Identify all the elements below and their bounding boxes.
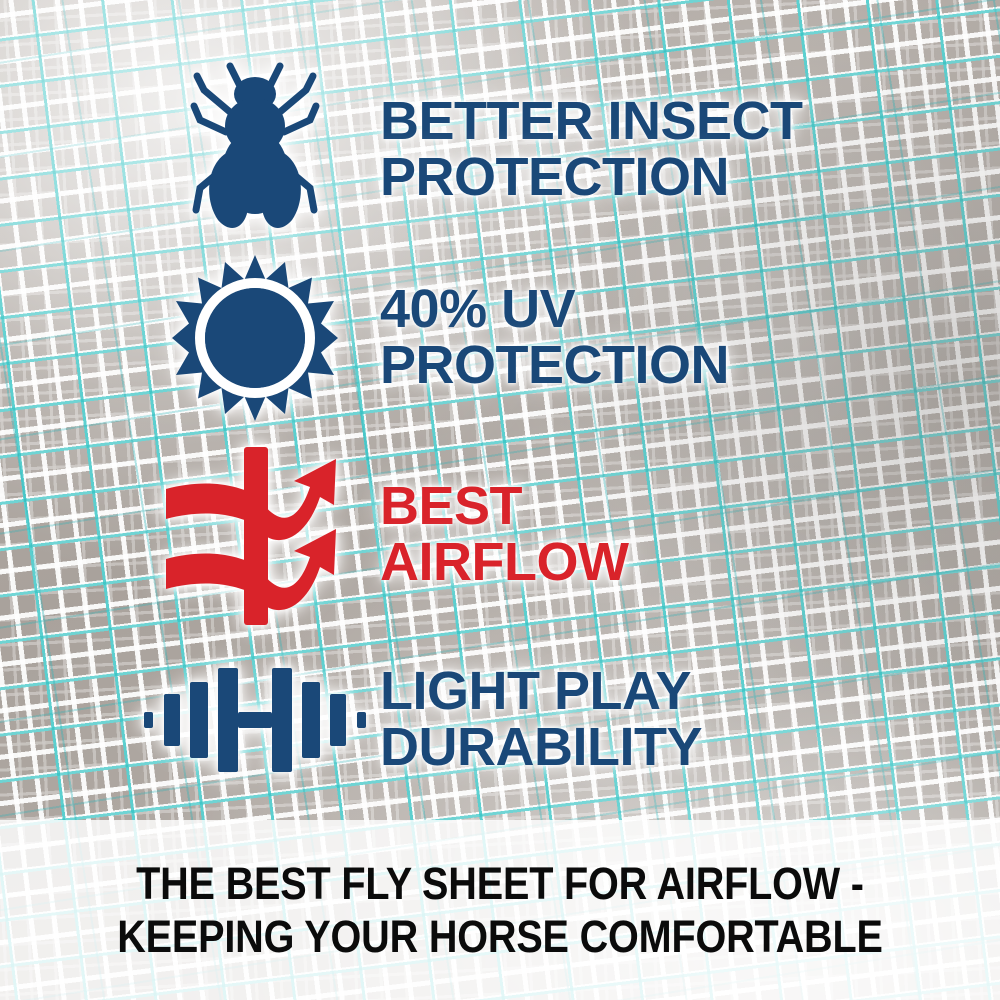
banner-line-2: KEEPING YOUR HORSE COMFORTABLE	[117, 910, 883, 963]
feature-label-uv-protection: 40% UV PROTECTION	[380, 282, 930, 393]
feature-label-durability: LIGHT PLAY DURABILITY	[380, 664, 930, 775]
feature-row-uv-protection: 40% UV PROTECTION	[130, 248, 930, 428]
feature-row-insect-protection: BETTER INSECT PROTECTION	[130, 60, 930, 240]
fly-icon	[130, 60, 380, 240]
sun-uv-icon-svg	[170, 253, 340, 423]
feature-list: BETTER INSECT PROTECTION 40% UV PROTECTI…	[0, 0, 1000, 820]
airflow-icon-svg	[160, 443, 350, 628]
feature-row-best-airflow: BEST AIRFLOW	[130, 440, 930, 630]
dumbbell-icon	[130, 660, 380, 780]
fly-icon-svg	[180, 60, 330, 240]
feature-row-durability: LIGHT PLAY DURABILITY	[130, 640, 930, 800]
feature-label-insect-protection: BETTER INSECT PROTECTION	[380, 94, 930, 205]
airflow-icon	[130, 443, 380, 628]
bottom-banner: THE BEST FLY SHEET FOR AIRFLOW - KEEPING…	[0, 820, 1000, 1000]
feature-label-best-airflow: BEST AIRFLOW	[380, 479, 930, 590]
sun-uv-icon	[130, 253, 380, 423]
product-feature-poster: BETTER INSECT PROTECTION 40% UV PROTECTI…	[0, 0, 1000, 1000]
banner-text-block: THE BEST FLY SHEET FOR AIRFLOW - KEEPING…	[65, 857, 935, 963]
banner-line-1: THE BEST FLY SHEET FOR AIRFLOW -	[117, 857, 883, 910]
dumbbell-icon-svg	[140, 660, 370, 780]
